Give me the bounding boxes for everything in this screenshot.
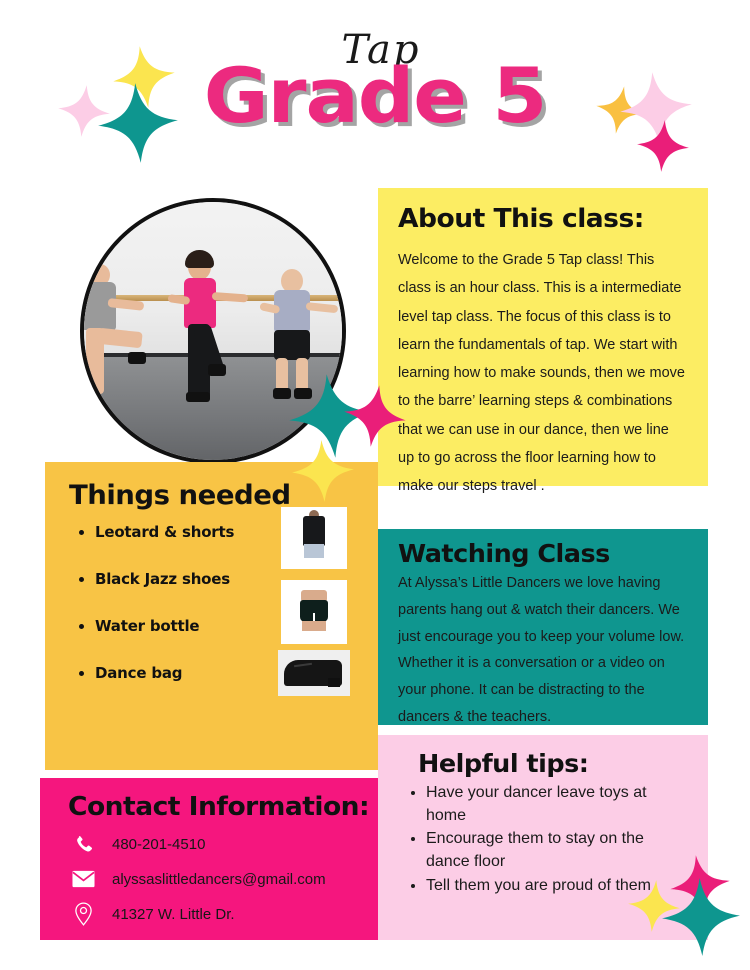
flyer-header: Tap Grade 5: [0, 30, 750, 180]
tips-heading: Helpful tips:: [418, 749, 695, 778]
list-item: Encourage them to stay on the dance floo…: [426, 828, 690, 873]
photo-inner: [84, 202, 342, 460]
email-address: alyssaslittledancers@gmail.com: [112, 871, 326, 888]
page-title: Grade 5: [0, 60, 750, 132]
phone-number: 480-201-4510: [112, 836, 205, 853]
about-class-panel: About This class: Welcome to the Grade 5…: [378, 188, 708, 486]
phone-icon: [68, 831, 98, 857]
tips-list: Have your dancer leave toys at home Enco…: [400, 782, 690, 898]
list-item: Leotard & shorts: [95, 523, 310, 541]
about-heading: About This class:: [398, 204, 694, 234]
things-needed-list: Leotard & shorts Black Jazz shoes Water …: [69, 523, 310, 682]
list-item: Have your dancer leave toys at home: [426, 782, 690, 827]
tap-class-photo: [80, 198, 346, 464]
things-needed-panel: Things needed Leotard & shorts Black Jaz…: [45, 462, 378, 770]
helpful-tips-panel: Helpful tips: Have your dancer leave toy…: [378, 735, 708, 940]
watching-body: At Alyssa’s Little Dancers we love havin…: [398, 570, 688, 731]
list-item: Black Jazz shoes: [95, 570, 310, 588]
list-item: Dance bag: [95, 664, 310, 682]
envelope-icon: [68, 866, 98, 892]
list-item: Water bottle: [95, 617, 310, 635]
contact-heading: Contact Information:: [68, 792, 384, 822]
watching-heading: Watching Class: [398, 539, 694, 568]
about-body: Welcome to the Grade 5 Tap class! This c…: [398, 246, 688, 500]
watching-class-panel: Watching Class At Alyssa’s Little Dancer…: [378, 529, 708, 725]
contact-information-panel: Contact Information: 480-201-4510 alyssa…: [40, 778, 378, 940]
contact-row-email[interactable]: alyssaslittledancers@gmail.com: [68, 866, 378, 892]
things-needed-heading: Things needed: [69, 480, 384, 511]
flyer-page: Tap Grade 5: [0, 0, 750, 970]
list-item: Tell them you are proud of them: [426, 875, 690, 898]
contact-row-address[interactable]: 41327 W. Little Dr.: [68, 901, 378, 927]
street-address: 41327 W. Little Dr.: [112, 906, 235, 923]
contact-row-phone[interactable]: 480-201-4510: [68, 831, 378, 857]
location-pin-icon: [68, 901, 98, 927]
